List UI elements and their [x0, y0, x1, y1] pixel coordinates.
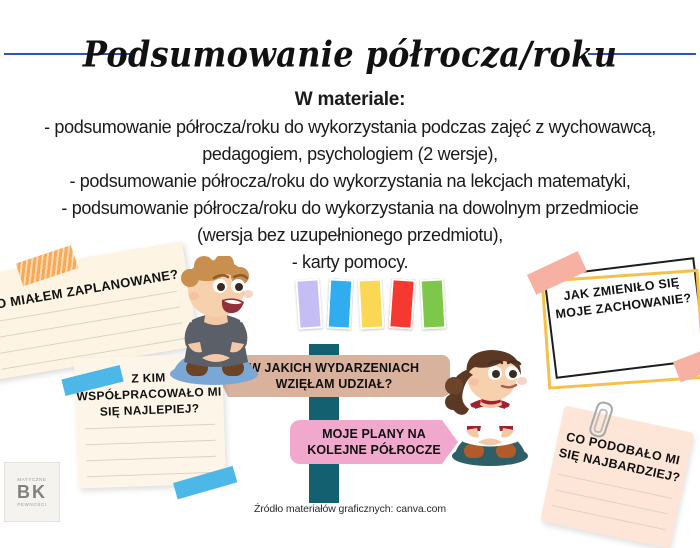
intro-line-1: - podsumowanie półrocza/roku do wykorzys…	[0, 114, 700, 141]
sign-plans-line1: MOJE PLANY NA	[322, 426, 426, 442]
character-boy	[156, 256, 276, 388]
page-title: Podsumowanie półrocza/roku	[0, 25, 700, 83]
girl-illustration	[438, 346, 542, 470]
intro-heading: W materiale:	[0, 86, 700, 114]
source-credit: Źródło materiałów graficznych: canva.com	[0, 503, 700, 515]
color-card-green	[420, 278, 447, 329]
boy-illustration	[156, 256, 276, 388]
slide-canvas: Podsumowanie półrocza/roku W materiale: …	[0, 0, 700, 520]
character-girl	[438, 346, 542, 470]
color-card-yellow	[358, 278, 385, 329]
intro-line-5: (wersja bez uzupełnionego przedmiotu),	[0, 222, 700, 249]
sign-plans-line2: KOLEJNE PÓŁROCZE	[307, 442, 441, 458]
color-card-group	[297, 279, 447, 333]
sign-events-line2: WZIĘŁAM UDZIAŁ?	[276, 376, 393, 392]
sign-plans: MOJE PLANY NA KOLEJNE PÓŁROCZE	[290, 420, 458, 464]
intro-line-2: pedagogiem, psychologiem (2 wersje),	[0, 141, 700, 168]
note-card-behavior: JAK ZMIENIŁO SIĘ MOJE ZACHOWANIE?	[543, 257, 700, 379]
color-card-red	[388, 278, 415, 330]
note-card-liked: CO PODOBAŁO MI SIĘ NAJBARDZIEJ?	[540, 406, 694, 548]
color-card-blue	[327, 278, 354, 329]
color-card-lavender	[295, 278, 322, 330]
slide-header: Podsumowanie półrocza/roku	[0, 28, 700, 80]
logo-mark: BK	[17, 482, 47, 502]
intro-line-4: - podsumowanie półrocza/roku do wykorzys…	[0, 195, 700, 222]
intro-line-3: - podsumowanie półrocza/roku do wykorzys…	[0, 168, 700, 195]
intro-block: W materiale: - podsumowanie półrocza/rok…	[0, 86, 700, 276]
